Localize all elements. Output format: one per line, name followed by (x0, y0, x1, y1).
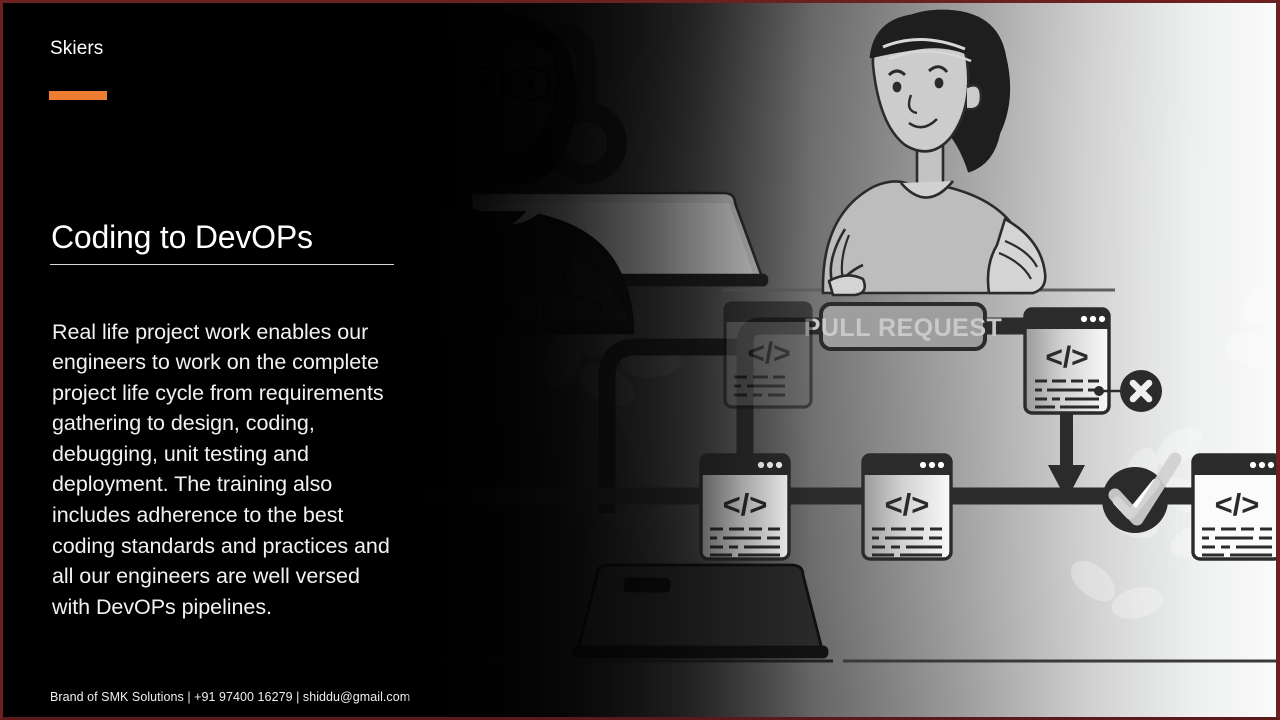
footer-contact: Brand of SMK Solutions | +91 97400 16279… (50, 688, 410, 706)
accent-bar (49, 91, 107, 100)
code-window-branch-a: </> (701, 455, 789, 559)
slide-canvas: PULL REQUEST </> (0, 0, 1280, 720)
reject-x-badge (1120, 370, 1162, 412)
laptop-bottom-left (573, 565, 827, 657)
body-paragraph: Real life project work enables our engin… (52, 317, 402, 623)
code-window-workstation: </> (725, 303, 811, 407)
page-title: Coding to DevOPs (51, 216, 411, 258)
pull-request-label: PULL REQUEST (804, 304, 1003, 349)
code-window-merged: </> (1193, 455, 1280, 559)
code-glyph: </> (723, 487, 768, 522)
code-glyph: </> (885, 487, 930, 522)
pull-request-label-text: PULL REQUEST (804, 314, 1003, 342)
code-glyph: </> (1215, 487, 1260, 522)
code-glyph: </> (747, 337, 790, 370)
brand-name: Skiers (50, 36, 103, 62)
devops-illustration: PULL REQUEST </> (393, 3, 1280, 720)
code-window-branch-b: </> (863, 455, 951, 559)
title-divider (50, 264, 394, 265)
code-glyph: </> (1045, 341, 1088, 374)
text-panel: Skiers Coding to DevOPs Real life projec… (3, 3, 423, 720)
